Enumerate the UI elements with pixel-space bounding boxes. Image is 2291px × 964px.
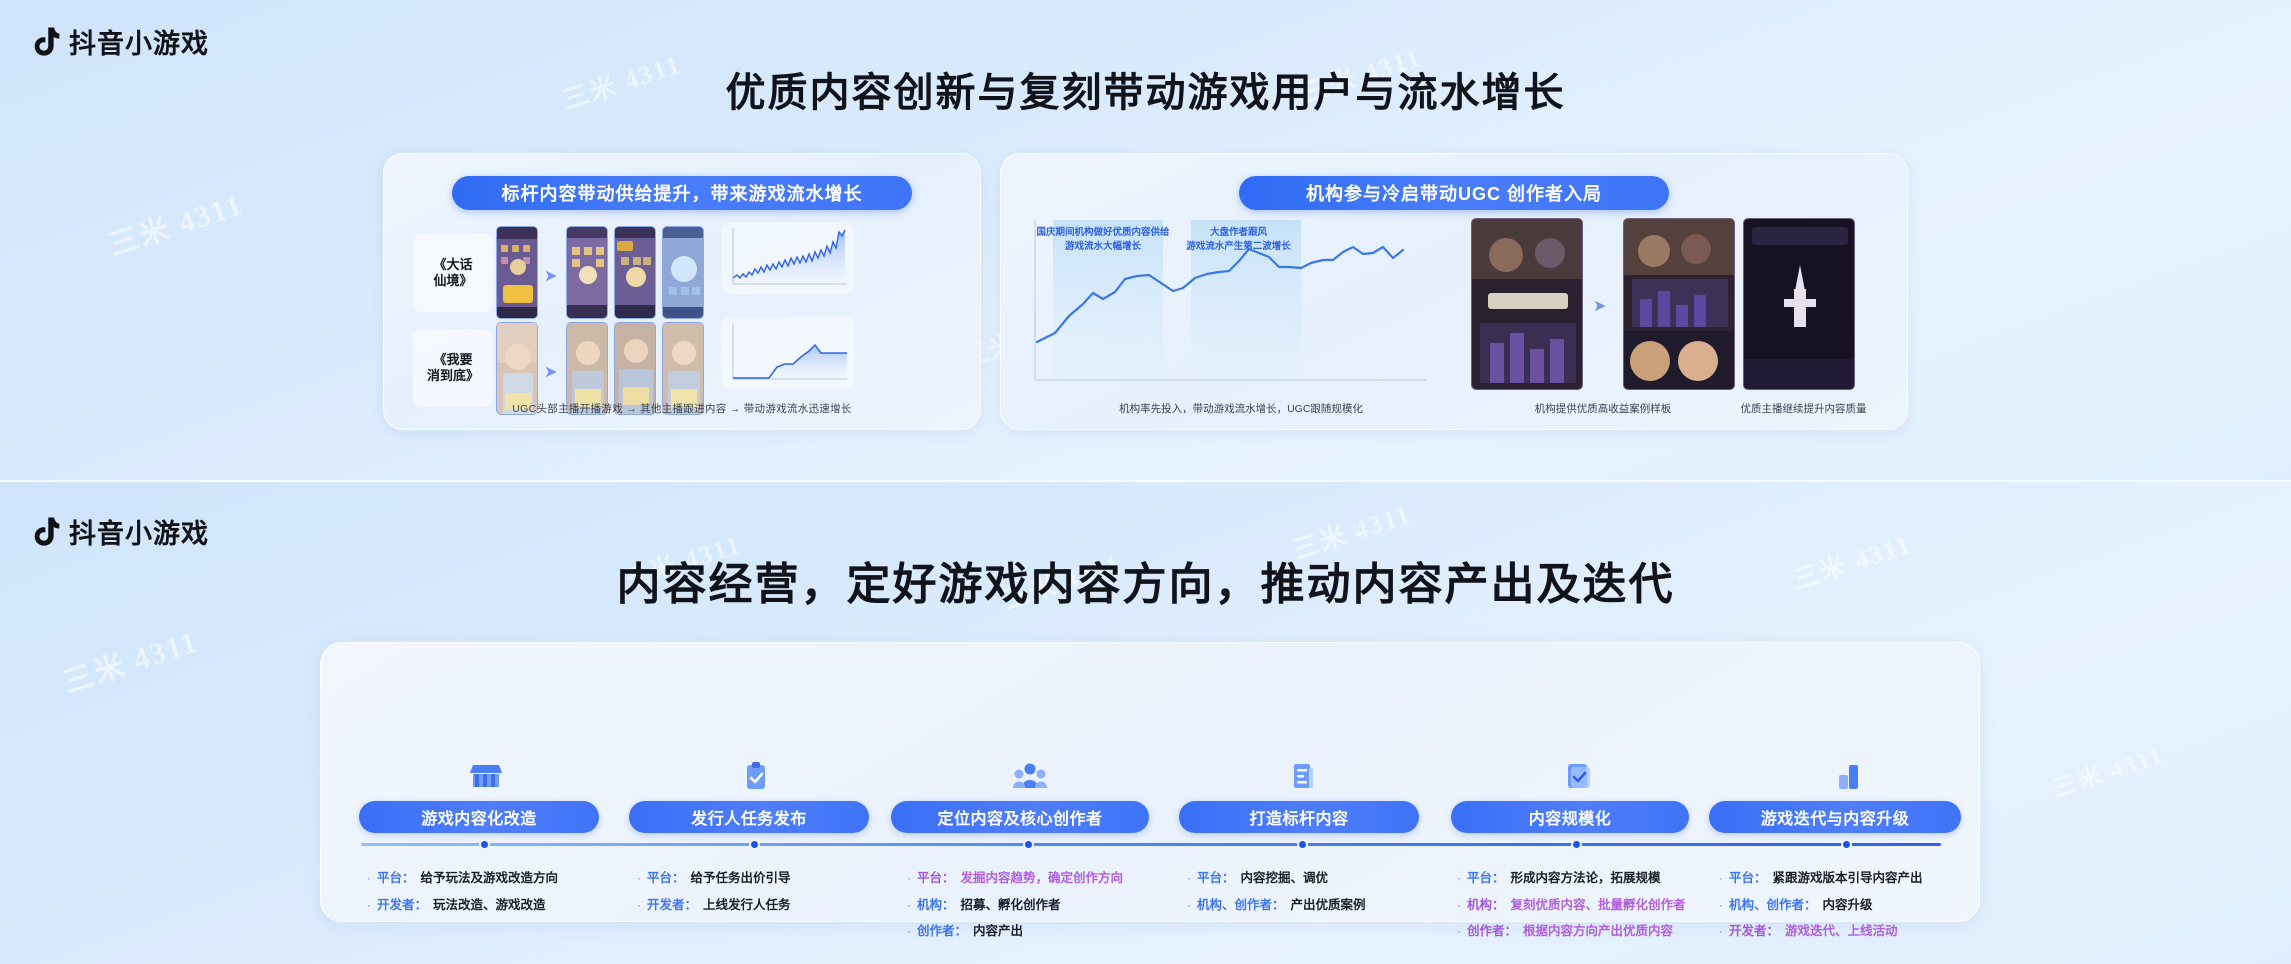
timeline-track [361, 843, 1941, 846]
bullet-role: 创作者： [1467, 924, 1517, 940]
bullet-item: ·平台：内容挖掘、调优 [1187, 871, 1366, 887]
game-label-2: 《我要 消到底》 [413, 329, 493, 407]
bullet-text: 内容升级 [1823, 898, 1873, 914]
card-caption-agency-2: 机构提供优质高收益案例样板 [1471, 401, 1735, 416]
brand-logo: 抖音小游戏 [30, 22, 209, 61]
bullet-item: ·创作者：内容产出 [907, 924, 1123, 940]
flow-arrow-icon: ➤ [544, 362, 557, 382]
bullet-item: ·机构、创作者：产出优质案例 [1187, 898, 1366, 914]
bullet-item: ·平台：形成内容方法论，拓展规模 [1457, 871, 1686, 887]
step-bullets-2: ·平台：给予任务出价引导 ·开发者：上线发行人任务 [637, 871, 791, 924]
live-photo-art [1624, 219, 1735, 390]
step-pill-6[interactable]: 游戏迭代与内容升级 [1709, 801, 1961, 833]
bullet-role: 开发者： [647, 898, 697, 914]
bullet-dot: · [637, 898, 641, 913]
content-operation-panel: 游戏内容化改造 ·平台：给予玩法及游戏改造方向 ·开发者：玩法改造、游戏改造 发… [320, 642, 1980, 922]
watermark: 三米 4311 [2047, 735, 2167, 804]
card-caption-benchmark: UGC头部主播开播游戏 → 其他主播跟进内容 → 带动游戏流水迅速增长 [384, 401, 980, 416]
bullet-text: 上线发行人任务 [703, 898, 791, 914]
game-screenshot-art [663, 227, 704, 319]
bullet-role: 平台： [1197, 871, 1235, 887]
tiktok-note-icon [30, 26, 60, 58]
bullet-text: 内容产出 [973, 924, 1023, 940]
bullet-text: 产出优质案例 [1291, 898, 1366, 914]
step-bullets-1: ·平台：给予玩法及游戏改造方向 ·开发者：玩法改造、游戏改造 [367, 871, 558, 924]
game-screenshot-art [497, 227, 538, 319]
store-icon [469, 761, 503, 791]
bullet-dot: · [1187, 898, 1191, 913]
brand-name: 抖音小游戏 [69, 512, 209, 551]
bullet-text: 招募、孵化创作者 [961, 898, 1061, 914]
chart-box-revenue-1 [721, 222, 854, 294]
bullet-dot: · [1457, 871, 1461, 886]
bullet-role: 机构： [1467, 898, 1505, 914]
timeline-dot-6 [1841, 839, 1852, 850]
tiktok-note-icon [30, 516, 60, 548]
chart-annotation-1: 国庆期间机构做好优质内容供给 游戏流水大幅增长 [1033, 226, 1173, 254]
bullet-text: 给予任务出价引导 [691, 871, 791, 887]
bullet-role: 机构、创作者： [1729, 898, 1817, 914]
step-pill-5[interactable]: 内容规模化 [1451, 801, 1689, 833]
bullet-item: ·平台：给予任务出价引导 [637, 871, 791, 887]
bullet-dot: · [1719, 871, 1723, 886]
bullet-role: 平台： [377, 871, 415, 887]
step-pill-2[interactable]: 发行人任务发布 [629, 801, 869, 833]
bullet-item: ·开发者：玩法改造、游戏改造 [367, 898, 558, 914]
timeline-dot-1 [479, 839, 490, 850]
bullet-item: ·平台：给予玩法及游戏改造方向 [367, 871, 558, 887]
card-benchmark-content: 标杆内容带动供给提升，带来游戏流水增长 《大话 仙境》 ➤ [383, 153, 981, 430]
chart-annotation-2: 大盘作者跟风 游戏流水产生第二波增长 [1171, 226, 1306, 254]
bullet-role: 机构： [917, 898, 955, 914]
bullet-text: 给予玩法及游戏改造方向 [421, 871, 559, 887]
bullet-dot: · [637, 871, 641, 886]
flow-arrow-icon: ➤ [1593, 296, 1606, 316]
bullet-role: 平台： [1467, 871, 1505, 887]
revenue-line-chart-2 [721, 317, 854, 389]
bar-chart-icon [1831, 761, 1865, 791]
bullet-item: ·机构：复刻优质内容、批量孵化创作者 [1457, 898, 1686, 914]
bullet-text: 复刻优质内容、批量孵化创作者 [1511, 898, 1686, 914]
step-bullets-6: ·平台：紧跟游戏版本引导内容产出 ·机构、创作者：内容升级 ·开发者：游戏迭代、… [1719, 871, 1923, 951]
flow-arrow-icon: ➤ [544, 266, 557, 286]
annotation-1-line1: 国庆期间机构做好优质内容供给 [1033, 226, 1173, 240]
bullet-item: ·机构、创作者：内容升级 [1719, 898, 1923, 914]
bullet-role: 开发者： [377, 898, 427, 914]
bullet-text: 紧跟游戏版本引导内容产出 [1773, 871, 1923, 887]
step-pill-4[interactable]: 打造标杆内容 [1179, 801, 1419, 833]
bullet-dot: · [367, 871, 371, 886]
bullet-dot: · [1719, 924, 1723, 939]
bullet-item: ·开发者：游戏迭代、上线活动 [1719, 924, 1923, 940]
game-screenshot-1 [496, 226, 538, 319]
live-photo-3 [1743, 218, 1855, 390]
clipboard-check-icon [739, 761, 773, 791]
document-icon [1287, 761, 1321, 791]
watermark: 三米 4311 [102, 179, 249, 264]
live-photo-1 [1471, 218, 1583, 390]
live-photo-2 [1623, 218, 1735, 390]
revenue-line-chart-1 [721, 222, 854, 294]
game-screenshot-2 [566, 226, 608, 319]
bullet-text: 内容挖掘、调优 [1241, 871, 1329, 887]
bullet-role: 平台： [647, 871, 685, 887]
game-label-2-line1: 《我要 [427, 352, 479, 368]
bullet-dot: · [1457, 924, 1461, 939]
brand-name: 抖音小游戏 [69, 22, 209, 61]
card-caption-agency-1: 机构率先投入，带动游戏流水增长，UGC跟随规模化 [1001, 401, 1481, 416]
game-label-1: 《大话 仙境》 [413, 234, 493, 312]
game-screenshot-3 [614, 226, 656, 319]
chart-box-revenue-2 [721, 317, 854, 389]
bullet-dot: · [1719, 898, 1723, 913]
bullet-item: ·创作者：根据内容方向产出优质内容 [1457, 924, 1686, 940]
step-bullets-3: ·平台：发掘内容趋势，确定创作方向 ·机构：招募、孵化创作者 ·创作者：内容产出 [907, 871, 1123, 951]
bullet-text: 形成内容方法论，拓展规模 [1511, 871, 1661, 887]
slide-content-innovation: 三米 4311 三米 4311 三米 4311 三米 4311 三米 4311 … [0, 0, 2291, 482]
annotation-1-line2: 游戏流水大幅增长 [1033, 240, 1173, 254]
bullet-role: 平台： [1729, 871, 1767, 887]
card-agency-coldstart: 机构参与冷启带动UGC 创作者入局 国庆期间机构做好 [1000, 153, 1908, 430]
step-pill-1[interactable]: 游戏内容化改造 [359, 801, 599, 833]
bullet-dot: · [1457, 898, 1461, 913]
timeline-dot-5 [1571, 839, 1582, 850]
bullet-text: 游戏迭代、上线活动 [1785, 924, 1898, 940]
game-label-1-line1: 《大话 [433, 257, 472, 273]
page-title-2: 内容经营，定好游戏内容方向，推动内容产出及迭代 [0, 548, 2291, 612]
brand-logo: 抖音小游戏 [30, 512, 209, 551]
slide-content-operations: 三米 4311 三米 4311 三米 4311 三米 4311 三米 4311 … [0, 482, 2291, 964]
bullet-role: 平台： [917, 871, 955, 887]
game-screenshot-4 [662, 226, 704, 319]
bullet-text: 玩法改造、游戏改造 [433, 898, 546, 914]
bullet-dot: · [907, 924, 911, 939]
checklist-icon [1561, 761, 1595, 791]
game-screenshot-art [567, 227, 608, 319]
game-screenshot-art [615, 227, 656, 319]
live-photo-art [1472, 219, 1583, 390]
bullet-dot: · [1187, 871, 1191, 886]
bullet-dot: · [907, 898, 911, 913]
card-caption-agency-3: 优质主播继续提升内容质量 [1701, 401, 1906, 416]
bullet-item: ·平台：发掘内容趋势，确定创作方向 [907, 871, 1123, 887]
timeline-dot-2 [749, 839, 760, 850]
step-pill-3[interactable]: 定位内容及核心创作者 [891, 801, 1149, 833]
live-photo-art [1744, 219, 1855, 390]
timeline-dot-4 [1297, 839, 1308, 850]
card-header-agency: 机构参与冷启带动UGC 创作者入局 [1239, 176, 1669, 210]
bullet-item: ·机构：招募、孵化创作者 [907, 898, 1123, 914]
page-title: 优质内容创新与复刻带动游戏用户与流水增长 [0, 60, 2291, 118]
timeline-dot-3 [1023, 839, 1034, 850]
annotation-2-line2: 游戏流水产生第二波增长 [1171, 240, 1306, 254]
bullet-text: 根据内容方向产出优质内容 [1523, 924, 1673, 940]
bullet-item: ·开发者：上线发行人任务 [637, 898, 791, 914]
bullet-text: 发掘内容趋势，确定创作方向 [961, 871, 1124, 887]
step-bullets-4: ·平台：内容挖掘、调优 ·机构、创作者：产出优质案例 [1187, 871, 1366, 924]
step-bullets-5: ·平台：形成内容方法论，拓展规模 ·机构：复刻优质内容、批量孵化创作者 ·创作者… [1457, 871, 1686, 951]
bullet-role: 创作者： [917, 924, 967, 940]
annotation-2-line1: 大盘作者跟风 [1171, 226, 1306, 240]
people-icon [1013, 761, 1047, 791]
bullet-dot: · [367, 898, 371, 913]
bullet-role: 机构、创作者： [1197, 898, 1285, 914]
game-label-2-line2: 消到底》 [427, 368, 479, 384]
watermark: 三米 4311 [57, 616, 204, 701]
bullet-item: ·平台：紧跟游戏版本引导内容产出 [1719, 871, 1923, 887]
bullet-role: 开发者： [1729, 924, 1779, 940]
bullet-dot: · [907, 871, 911, 886]
game-label-1-line2: 仙境》 [433, 273, 472, 289]
card-header-benchmark: 标杆内容带动供给提升，带来游戏流水增长 [452, 176, 912, 210]
